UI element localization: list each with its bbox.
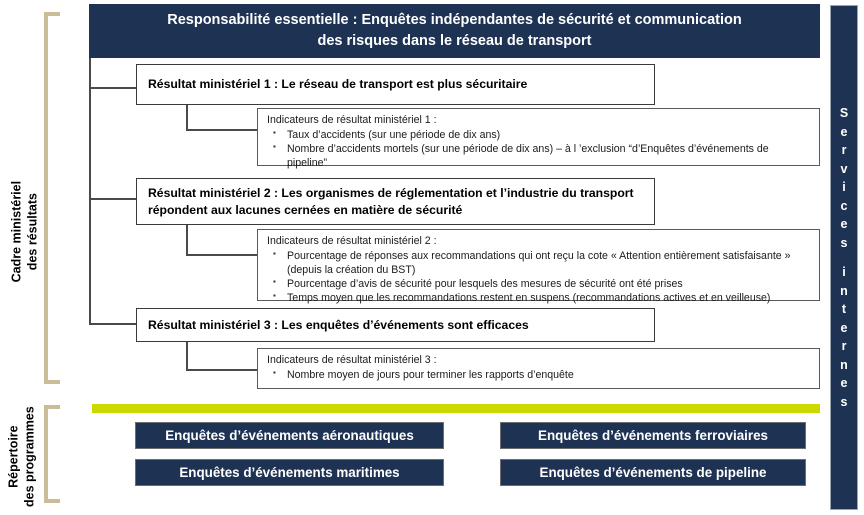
- list-item: Pourcentage de réponses aux recommandati…: [267, 250, 810, 278]
- list-item: Taux d’accidents (sur une période de dix…: [267, 129, 810, 143]
- side-label-inventory: Répertoire des programmes: [6, 387, 37, 515]
- services-char: c: [841, 200, 848, 213]
- result-box-2: Résultat ministériel 2 : Les organismes …: [136, 178, 655, 225]
- services-char: s: [841, 237, 848, 250]
- result-box-1-title: Résultat ministériel 1 : Le réseau de tr…: [148, 76, 643, 92]
- list-item: Nombre d’accidents mortels (sur une péri…: [267, 143, 810, 171]
- indicator-box-1-title: Indicateurs de résultat ministériel 1 :: [267, 114, 810, 128]
- indicator-box-2: Indicateurs de résultat ministériel 2 : …: [257, 229, 820, 301]
- indicator-box-3-list: Nombre moyen de jours pour terminer les …: [267, 369, 810, 383]
- tree-descender-1-vertical: [186, 105, 188, 129]
- services-char: n: [840, 359, 848, 372]
- indicator-box-3: Indicateurs de résultat ministériel 3 : …: [257, 348, 820, 389]
- result-box-2-title-line2: répondent aux lacunes cernées en matière…: [148, 202, 643, 218]
- indicator-box-3-title: Indicateurs de résultat ministériel 3 :: [267, 354, 810, 368]
- program-inventory-divider: [92, 404, 820, 413]
- tree-descender-2-vertical: [186, 225, 188, 254]
- core-responsibility-header: Responsabilité essentielle : Enquêtes in…: [89, 4, 820, 58]
- bracket-framework: [44, 12, 60, 384]
- list-item: Pourcentage d’avis de sécurité pour lesq…: [267, 278, 810, 292]
- program-box-pipeline[interactable]: Enquêtes d’événements de pipeline: [500, 459, 806, 486]
- indicator-box-1-list: Taux d’accidents (sur une période de dix…: [267, 129, 810, 171]
- list-item: Nombre moyen de jours pour terminer les …: [267, 369, 810, 383]
- tree-branch-result-3: [89, 323, 136, 325]
- services-char: s: [841, 396, 848, 409]
- services-char: S: [840, 107, 848, 120]
- services-char: v: [841, 163, 848, 176]
- tree-descender-3-horizontal: [186, 369, 257, 371]
- services-char: i: [842, 181, 845, 194]
- services-char: e: [841, 322, 848, 335]
- side-label-framework: Cadre ministériel des résultats: [9, 147, 40, 317]
- result-box-3: Résultat ministériel 3 : Les enquêtes d’…: [136, 308, 655, 342]
- services-char: i: [842, 266, 845, 279]
- bracket-inventory: [44, 405, 60, 503]
- program-box-marine[interactable]: Enquêtes d’événements maritimes: [135, 459, 444, 486]
- services-char: t: [842, 303, 846, 316]
- services-internes-bar: Servicesinternes: [830, 5, 858, 510]
- tree-trunk-line: [89, 58, 91, 323]
- indicator-box-1: Indicateurs de résultat ministériel 1 : …: [257, 108, 820, 166]
- side-label-inventory-line2: des programmes: [22, 387, 38, 515]
- services-char: e: [841, 218, 848, 231]
- services-char: e: [841, 377, 848, 390]
- side-label-framework-line2: des résultats: [25, 147, 41, 317]
- results-framework-diagram: Cadre ministériel des résultats Répertoi…: [0, 0, 864, 515]
- tree-branch-result-1: [89, 87, 136, 89]
- side-label-framework-line1: Cadre ministériel: [9, 147, 25, 317]
- tree-branch-result-2: [89, 198, 136, 200]
- result-box-2-title-line1: Résultat ministériel 2 : Les organismes …: [148, 185, 643, 201]
- result-box-1: Résultat ministériel 1 : Le réseau de tr…: [136, 64, 655, 105]
- list-item: Temps moyen que les recommandations rest…: [267, 292, 810, 306]
- services-char: r: [842, 144, 847, 157]
- services-char: r: [842, 340, 847, 353]
- tree-descender-3-vertical: [186, 341, 188, 369]
- side-label-inventory-line1: Répertoire: [6, 387, 22, 515]
- services-char: e: [841, 126, 848, 139]
- indicator-box-2-list: Pourcentage de réponses aux recommandati…: [267, 250, 810, 306]
- header-line-2: des risques dans le réseau de transport: [318, 31, 592, 52]
- header-line-1: Responsabilité essentielle : Enquêtes in…: [167, 10, 742, 31]
- result-box-3-title: Résultat ministériel 3 : Les enquêtes d’…: [148, 317, 643, 333]
- program-box-rail[interactable]: Enquêtes d’événements ferroviaires: [500, 422, 806, 449]
- services-char: n: [840, 285, 848, 298]
- tree-descender-2-horizontal: [186, 254, 257, 256]
- program-box-aeronautical[interactable]: Enquêtes d’événements aéronautiques: [135, 422, 444, 449]
- indicator-box-2-title: Indicateurs de résultat ministériel 2 :: [267, 235, 810, 249]
- tree-descender-1-horizontal: [186, 129, 257, 131]
